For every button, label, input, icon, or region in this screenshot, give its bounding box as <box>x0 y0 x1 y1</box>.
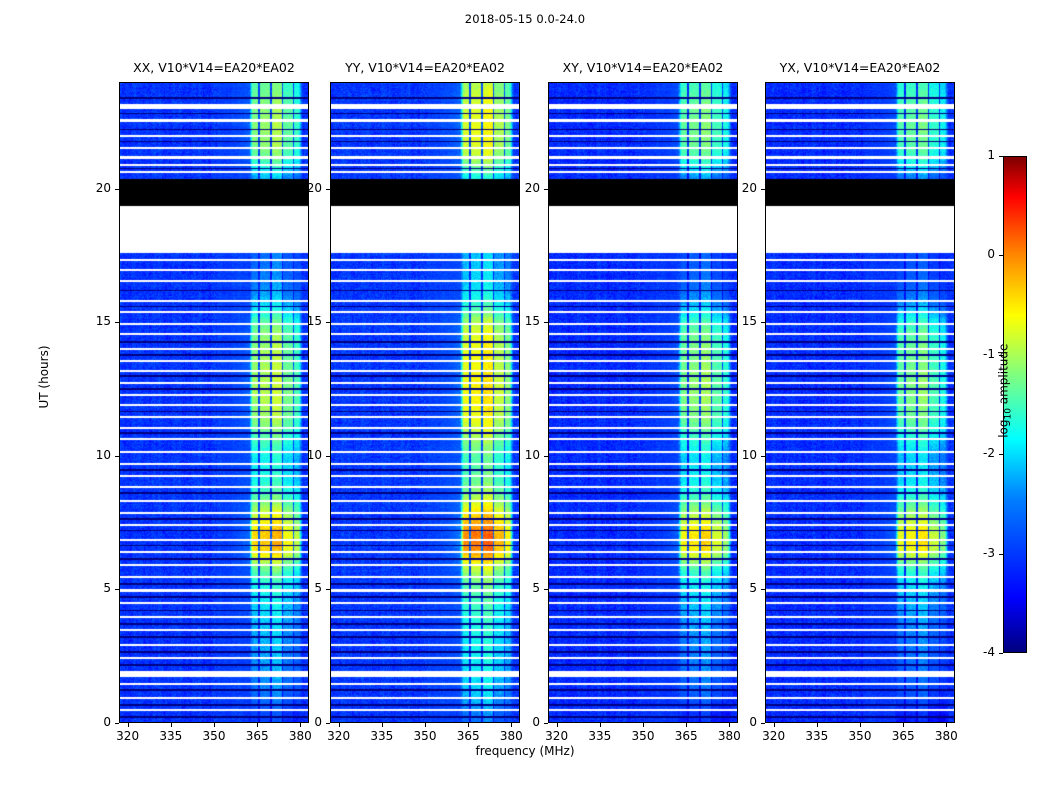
figure-suptitle: 2018-05-15 0.0-24.0 <box>0 12 1050 26</box>
x-tick-mark <box>425 723 426 727</box>
colorbar-tick-label: 1 <box>961 148 995 162</box>
colorbar-tick-label: -4 <box>961 645 995 659</box>
x-tick-mark <box>171 723 172 727</box>
y-tick-mark <box>761 589 765 590</box>
y-tick-mark <box>761 723 765 724</box>
y-tick-mark <box>115 322 119 323</box>
x-tick-mark <box>600 723 601 727</box>
y-tick-label: 5 <box>510 581 540 595</box>
waterfall-image <box>766 83 954 722</box>
colorbar-tick-mark <box>999 255 1003 256</box>
y-tick-label: 0 <box>292 715 322 729</box>
colorbar-label: log10 amplitude <box>996 326 1013 456</box>
waterfall-panel-yy[interactable] <box>330 82 520 723</box>
y-tick-mark <box>115 723 119 724</box>
colorbar-tick-label: -2 <box>961 446 995 460</box>
colorbar-tick-label: 0 <box>961 247 995 261</box>
panel-title-yx: YX, V10*V14=EA20*EA02 <box>740 60 980 78</box>
y-tick-mark <box>544 589 548 590</box>
x-tick-mark <box>257 723 258 727</box>
x-tick-label: 365 <box>666 729 706 743</box>
colorbar-label-text: log10 amplitude <box>996 344 1010 438</box>
x-tick-mark <box>468 723 469 727</box>
y-tick-label: 0 <box>510 715 540 729</box>
y-tick-label: 15 <box>727 314 757 328</box>
x-tick-mark <box>903 723 904 727</box>
x-tick-label: 320 <box>319 729 359 743</box>
x-tick-label: 350 <box>405 729 445 743</box>
y-tick-label: 10 <box>81 448 111 462</box>
x-tick-label: 380 <box>926 729 966 743</box>
x-tick-label: 380 <box>709 729 749 743</box>
y-tick-mark <box>544 189 548 190</box>
y-tick-mark <box>761 322 765 323</box>
x-tick-label: 335 <box>797 729 837 743</box>
x-tick-label: 365 <box>448 729 488 743</box>
y-tick-mark <box>115 189 119 190</box>
y-tick-label: 20 <box>292 181 322 195</box>
figure-canvas: 2018-05-15 0.0-24.0 XX, V10*V14=EA20*EA0… <box>0 0 1050 800</box>
x-tick-label: 320 <box>537 729 577 743</box>
y-tick-mark <box>115 456 119 457</box>
y-tick-label: 5 <box>727 581 757 595</box>
y-tick-mark <box>326 189 330 190</box>
x-tick-mark <box>643 723 644 727</box>
y-tick-mark <box>544 322 548 323</box>
x-tick-mark <box>339 723 340 727</box>
x-tick-mark <box>774 723 775 727</box>
x-tick-mark <box>557 723 558 727</box>
x-tick-label: 350 <box>840 729 880 743</box>
y-tick-label: 0 <box>81 715 111 729</box>
colorbar-tick-label: -1 <box>961 347 995 361</box>
x-tick-mark <box>214 723 215 727</box>
x-tick-label: 365 <box>237 729 277 743</box>
y-tick-label: 10 <box>292 448 322 462</box>
y-tick-mark <box>326 456 330 457</box>
y-tick-mark <box>761 189 765 190</box>
y-tick-mark <box>761 456 765 457</box>
x-tick-label: 320 <box>108 729 148 743</box>
waterfall-image <box>549 83 737 722</box>
waterfall-panel-xx[interactable] <box>119 82 309 723</box>
y-tick-label: 5 <box>81 581 111 595</box>
waterfall-panel-yx[interactable] <box>765 82 955 723</box>
x-tick-label: 335 <box>362 729 402 743</box>
y-tick-label: 10 <box>727 448 757 462</box>
y-tick-label: 20 <box>81 181 111 195</box>
x-tick-label: 335 <box>151 729 191 743</box>
x-tick-mark <box>860 723 861 727</box>
x-tick-mark <box>817 723 818 727</box>
panel-title-xx: XX, V10*V14=EA20*EA02 <box>94 60 334 78</box>
waterfall-image <box>120 83 308 722</box>
waterfall-image <box>331 83 519 722</box>
x-tick-label: 380 <box>280 729 320 743</box>
x-tick-label: 320 <box>754 729 794 743</box>
y-tick-mark <box>115 589 119 590</box>
y-tick-label: 20 <box>510 181 540 195</box>
colorbar-tick-mark <box>999 554 1003 555</box>
colorbar-tick-mark <box>999 653 1003 654</box>
y-tick-mark <box>326 723 330 724</box>
y-tick-label: 15 <box>510 314 540 328</box>
colorbar-tick-label: -3 <box>961 546 995 560</box>
y-tick-mark <box>544 456 548 457</box>
colorbar-tick-mark <box>999 156 1003 157</box>
y-tick-mark <box>326 322 330 323</box>
x-tick-mark <box>382 723 383 727</box>
panel-title-xy: XY, V10*V14=EA20*EA02 <box>523 60 763 78</box>
waterfall-panel-xy[interactable] <box>548 82 738 723</box>
x-tick-mark <box>686 723 687 727</box>
x-tick-label: 365 <box>883 729 923 743</box>
panel-title-yy: YY, V10*V14=EA20*EA02 <box>305 60 545 78</box>
y-tick-label: 0 <box>727 715 757 729</box>
y-tick-label: 10 <box>510 448 540 462</box>
y-tick-label: 20 <box>727 181 757 195</box>
y-tick-mark <box>326 589 330 590</box>
x-tick-label: 350 <box>194 729 234 743</box>
x-tick-label: 335 <box>580 729 620 743</box>
y-tick-mark <box>544 723 548 724</box>
x-tick-label: 350 <box>623 729 663 743</box>
y-tick-label: 15 <box>81 314 111 328</box>
x-tick-mark <box>128 723 129 727</box>
x-tick-mark <box>946 723 947 727</box>
y-axis-label: UT (hours) <box>37 317 51 437</box>
y-tick-label: 15 <box>292 314 322 328</box>
x-tick-label: 380 <box>491 729 531 743</box>
x-axis-label: frequency (MHz) <box>0 744 1050 758</box>
y-tick-label: 5 <box>292 581 322 595</box>
